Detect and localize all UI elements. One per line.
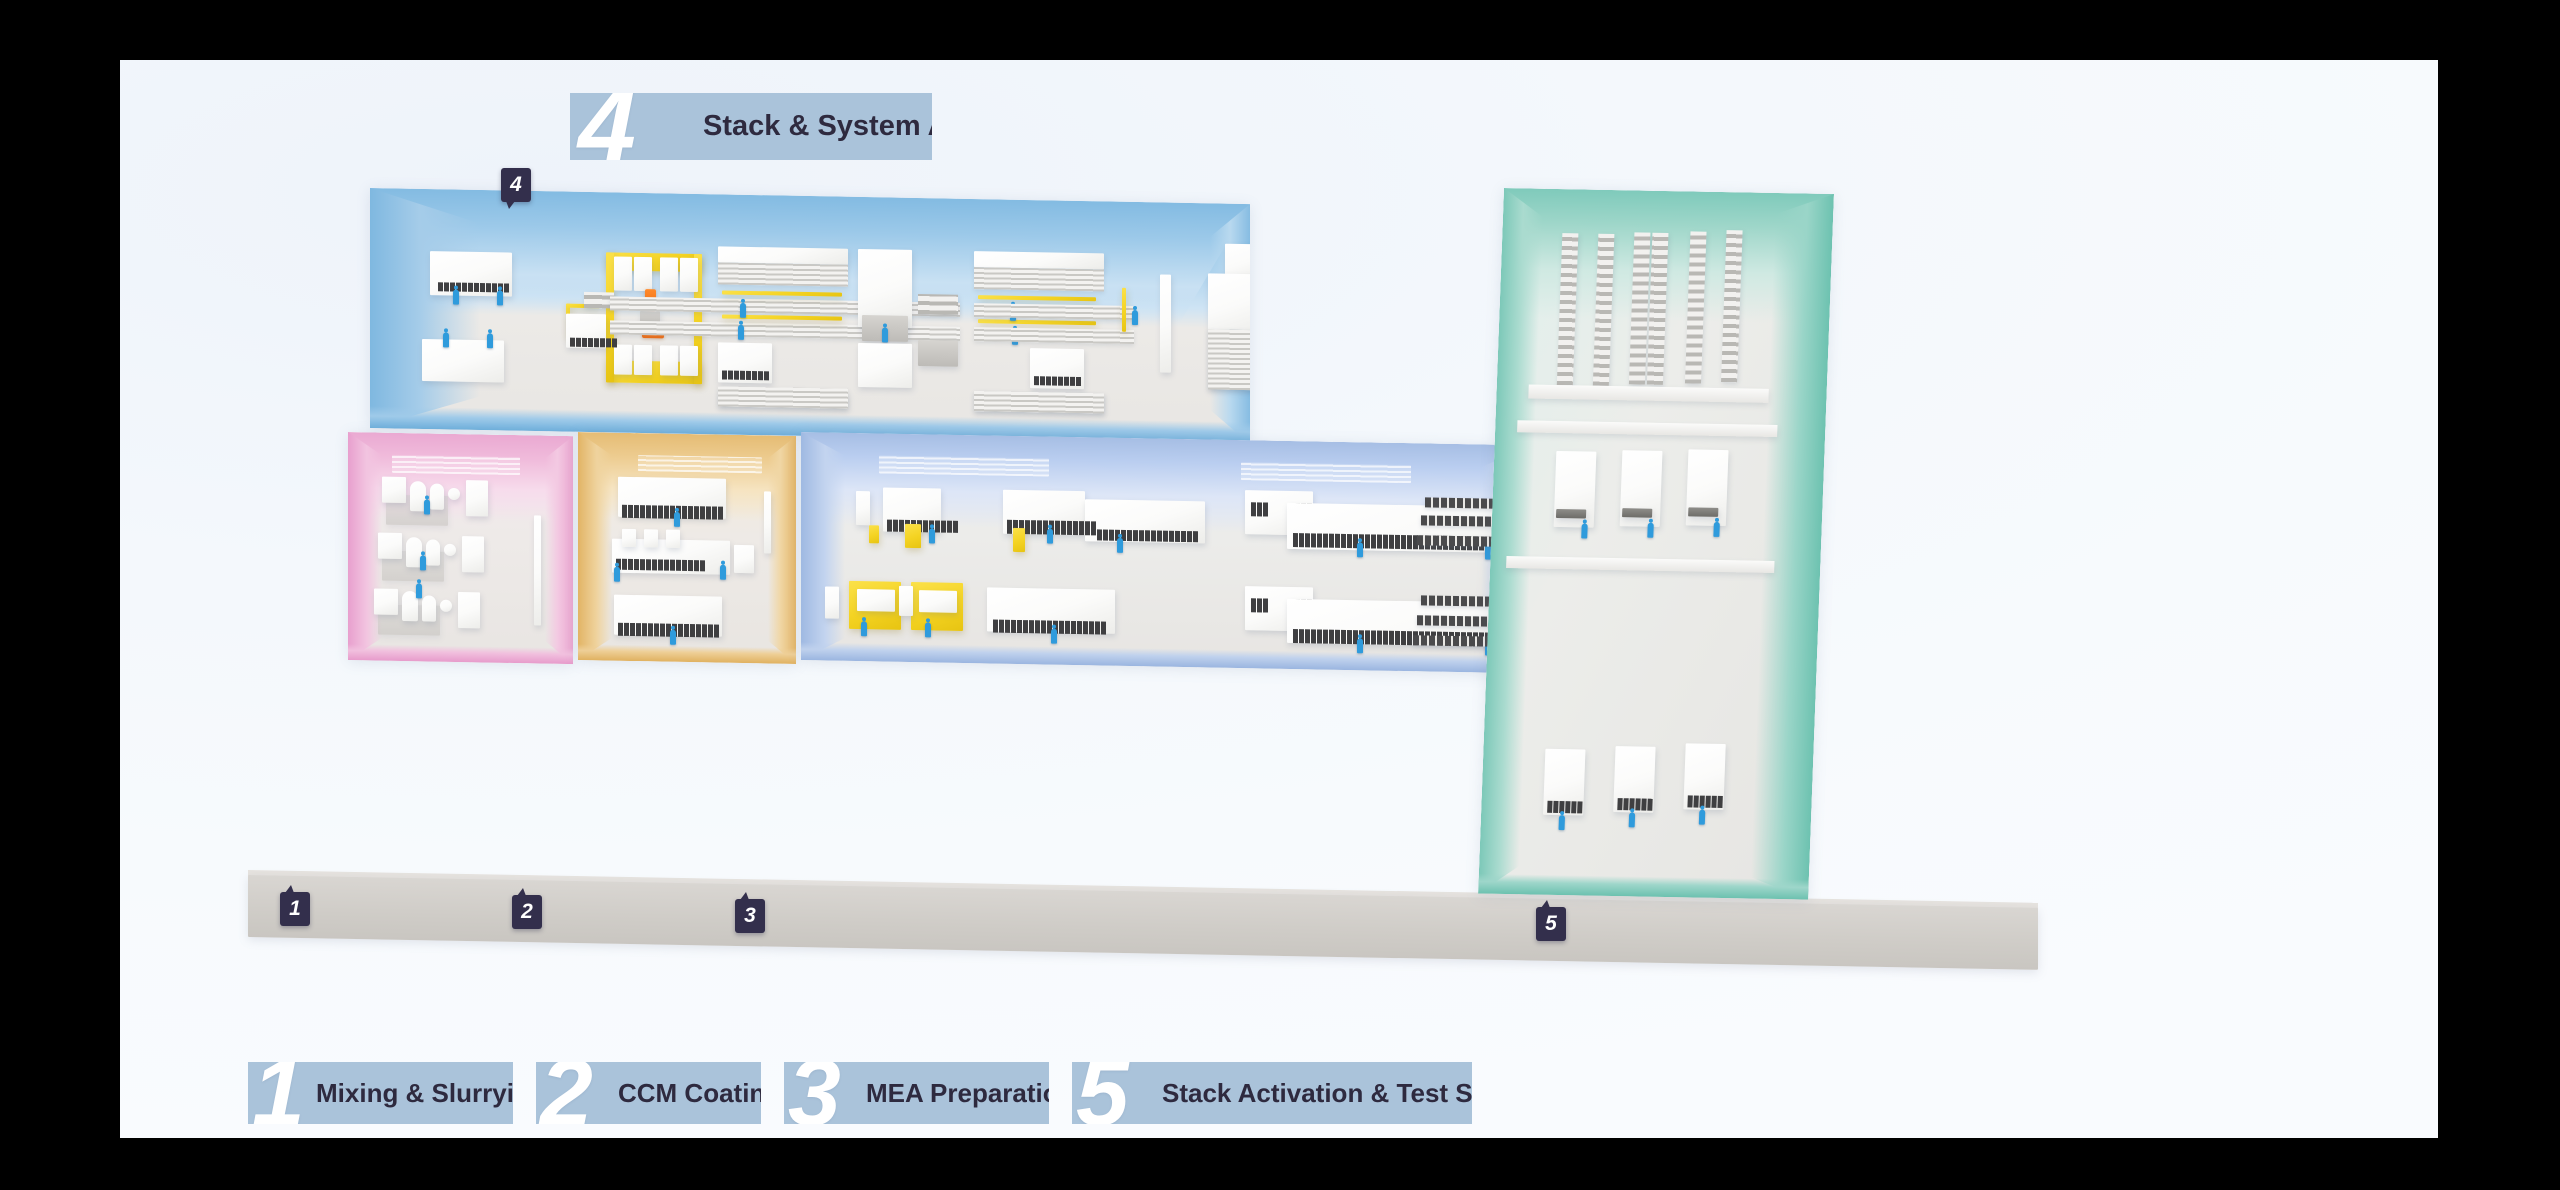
machine-block <box>614 344 632 374</box>
worker-figure <box>670 630 676 645</box>
pallet-stack-lines <box>1208 329 1250 390</box>
machine-block <box>680 346 698 376</box>
control-panel <box>1251 598 1268 612</box>
zone-2-wall-front <box>578 644 796 664</box>
test-station-screen <box>1688 507 1718 517</box>
worker-figure <box>738 325 744 340</box>
control-panel <box>616 559 705 572</box>
legend-item-1[interactable]: 1 Mixing & Slurrying <box>248 1062 513 1124</box>
marker-2[interactable]: 2 <box>512 895 542 929</box>
worker-figure <box>925 622 931 637</box>
zone-1-wall-left <box>348 432 382 661</box>
test-station-screen <box>1622 508 1652 518</box>
zone-2-room <box>578 432 796 664</box>
worker-figure <box>720 565 726 580</box>
legend-label-1: Mixing & Slurrying <box>316 1078 513 1109</box>
legend-label-5: Stack Activation & Test Station <box>1162 1078 1472 1109</box>
laminator-plate <box>919 590 957 613</box>
worker-figure <box>1117 538 1123 553</box>
control-panel <box>722 370 769 380</box>
zone-2-wall-left <box>578 432 612 661</box>
mixer-unit <box>382 477 406 503</box>
rail-row <box>974 391 1104 413</box>
mixer-unit <box>378 533 402 559</box>
machine-block <box>634 345 652 375</box>
worker-figure <box>453 290 459 305</box>
cabinet <box>462 536 484 572</box>
laminator-plate <box>857 589 895 612</box>
control-panel <box>618 623 719 638</box>
worker-figure <box>487 333 493 348</box>
worker-figure <box>1357 638 1363 653</box>
zone-number-4: 4 <box>578 93 632 160</box>
mixer-lid <box>440 600 452 612</box>
machine-grey <box>918 340 958 367</box>
legend-item-5[interactable]: 5 Stack Activation & Test Station <box>1072 1062 1472 1124</box>
worker-figure <box>416 583 422 598</box>
mixer-vessel <box>430 484 444 510</box>
legend-number-1: 1 <box>252 1062 301 1124</box>
ceiling-vent <box>392 455 520 475</box>
conveyor-line <box>974 303 1134 320</box>
worker-figure <box>1647 523 1654 538</box>
factory-building: 4 1 2 3 5 <box>248 170 2238 990</box>
legend-label-2: CCM Coating <box>618 1078 761 1109</box>
machine-block <box>660 345 678 375</box>
storage-rack <box>1413 635 1497 647</box>
legend-item-2[interactable]: 2 CCM Coating <box>536 1062 761 1124</box>
machine-block <box>614 256 632 290</box>
roller <box>666 530 680 548</box>
worker-figure <box>929 528 935 543</box>
worker-figure <box>420 555 426 570</box>
legend-number-3: 3 <box>788 1062 837 1124</box>
control-panel <box>1097 529 1198 542</box>
zone-3-wall-left <box>801 432 845 661</box>
cabinet <box>466 480 488 516</box>
crane-post <box>1122 288 1126 332</box>
zone-5-room <box>1478 188 1834 900</box>
mixer-lid <box>444 544 456 556</box>
ceiling-vent <box>1241 462 1411 483</box>
worker-figure <box>861 621 867 636</box>
control-panel <box>887 520 958 533</box>
zone-1-room <box>348 432 573 664</box>
machine-yellow <box>869 525 879 543</box>
mixer-unit <box>374 588 398 614</box>
marker-3[interactable]: 3 <box>735 899 765 933</box>
legend-label-3: MEA Preparation <box>866 1078 1049 1109</box>
control-panel <box>993 620 1106 635</box>
zone-3-room <box>801 432 1531 673</box>
zone-label-4: 4 Stack & System Assembly <box>570 93 932 160</box>
legend-item-3[interactable]: 3 MEA Preparation <box>784 1062 1049 1124</box>
partition-panel <box>1160 274 1171 372</box>
worker-figure <box>424 499 430 514</box>
control-panel <box>570 338 617 348</box>
marker-5[interactable]: 5 <box>1536 907 1566 941</box>
cabinet <box>458 592 480 628</box>
rail-row <box>974 267 1104 291</box>
worker-figure <box>1357 542 1363 557</box>
zone-label-text-4: Stack & System Assembly <box>703 110 932 143</box>
worker-figure <box>1047 529 1053 544</box>
cabinet <box>825 586 839 618</box>
marker-4[interactable]: 4 <box>501 168 531 202</box>
mixer-lid <box>448 488 460 500</box>
zone-1-wall-front <box>348 644 573 664</box>
worker-figure <box>1713 522 1720 537</box>
figure-canvas: 4 Stack & System Assembly <box>120 60 2438 1138</box>
machine-yellow <box>606 252 614 382</box>
control-panel <box>1034 376 1081 386</box>
roller <box>622 529 636 547</box>
worker-figure <box>882 327 888 342</box>
partition-panel <box>534 515 541 625</box>
zone-2-wall-right <box>768 435 796 664</box>
storage-rack <box>1417 535 1501 547</box>
machine-block <box>660 257 678 291</box>
tool-rack <box>918 294 958 315</box>
worker-figure <box>1132 310 1138 325</box>
cabinet <box>856 491 870 525</box>
machine-block <box>899 586 913 616</box>
test-station-screen <box>1556 509 1586 519</box>
machine-yellow <box>1013 528 1025 552</box>
partition-panel <box>764 491 771 553</box>
conveyor-line <box>974 327 1134 344</box>
worker-figure <box>1581 523 1588 538</box>
rail-row <box>718 262 848 286</box>
worker-figure <box>614 567 620 582</box>
worker-figure <box>1629 812 1636 827</box>
zone-4-room <box>370 188 1250 444</box>
ceiling-vent <box>638 455 762 473</box>
rail-row <box>718 386 848 408</box>
worker-figure <box>1051 629 1057 644</box>
worker-figure <box>443 332 449 347</box>
machine-block <box>680 258 698 292</box>
mixer-vessel <box>422 595 436 621</box>
mixer-vessel <box>426 539 440 565</box>
control-panel <box>1687 795 1722 808</box>
zone-1-wall-right <box>545 436 573 665</box>
worker-figure <box>1558 815 1565 830</box>
worker-figure <box>497 290 503 305</box>
machine-yellow <box>905 524 921 548</box>
robot-body <box>1208 273 1250 330</box>
worker-figure <box>740 303 746 318</box>
worker-figure <box>1699 810 1706 825</box>
machine-block <box>634 257 652 291</box>
control-panel <box>1547 801 1582 814</box>
control-panel <box>1251 502 1268 516</box>
legend-number-2: 2 <box>540 1062 589 1124</box>
control-panel <box>622 505 723 520</box>
machine-block <box>858 343 912 388</box>
ceiling-vent <box>879 455 1049 476</box>
zone-4-wall-left <box>370 188 480 430</box>
control-panel <box>1617 798 1652 811</box>
legend-number-5: 5 <box>1076 1062 1125 1124</box>
legend-row: 1 Mixing & Slurrying 2 CCM Coating 3 MEA… <box>248 1062 1495 1124</box>
roller <box>644 529 658 547</box>
cabinet <box>734 545 754 573</box>
worker-figure <box>674 512 680 527</box>
marker-1[interactable]: 1 <box>280 892 310 926</box>
